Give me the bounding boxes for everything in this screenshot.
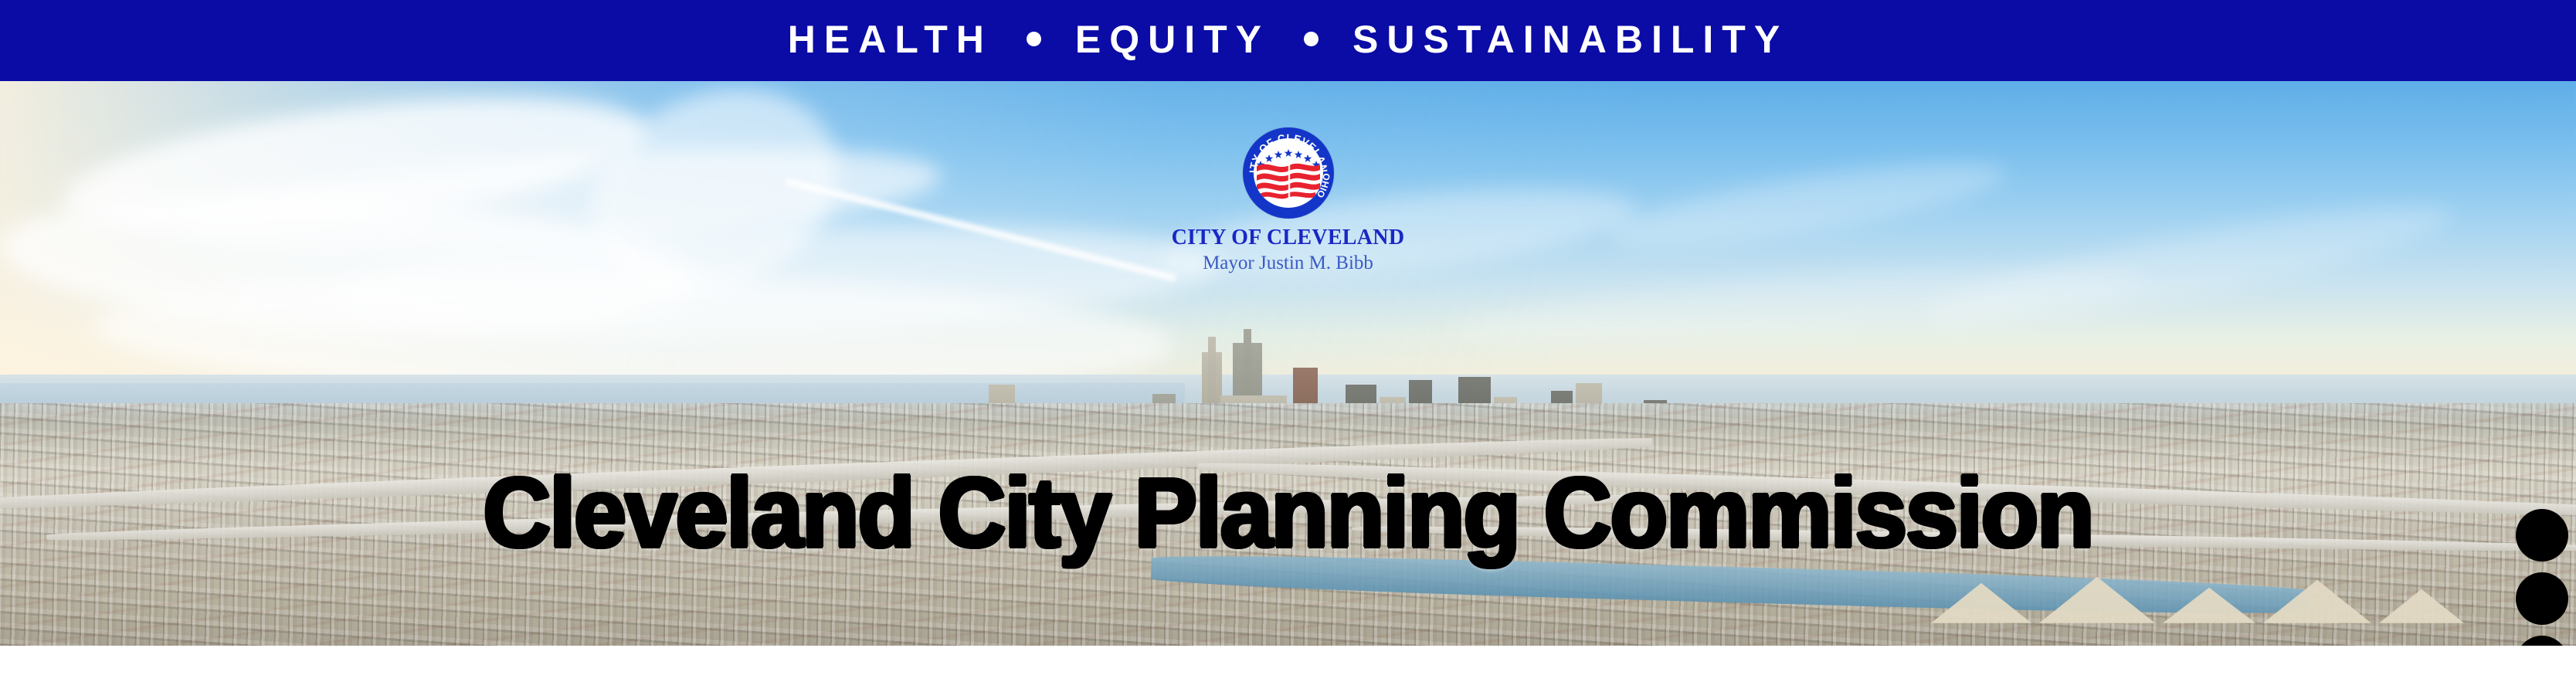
- banner-separator-dot-2: [1304, 32, 1319, 46]
- city-logo-block: CITY OF CLEVELAND OHIO: [0, 127, 2576, 274]
- banner-separator-dot-1: [1027, 32, 1041, 46]
- banner-word-health: HEALTH: [788, 20, 993, 59]
- banner-word-equity: EQUITY: [1075, 20, 1270, 59]
- seal-inner-disc: [1254, 138, 1323, 208]
- page-root: HEALTH EQUITY SUSTAINABILITY: [0, 0, 2576, 682]
- instagram-glyph: [2525, 582, 2559, 616]
- instagram-icon[interactable]: [2516, 572, 2568, 625]
- waving-flag-icon: [1255, 158, 1322, 203]
- facebook-glyph: [2525, 645, 2559, 646]
- top-banner: HEALTH EQUITY SUSTAINABILITY: [0, 0, 2576, 81]
- city-name-label: CITY OF CLEVELAND: [1172, 226, 1405, 250]
- youtube-glyph: [2525, 518, 2559, 552]
- youtube-icon[interactable]: [2516, 509, 2568, 562]
- hero-photo-region: CITY OF CLEVELAND OHIO: [0, 81, 2576, 646]
- social-links: [2516, 509, 2568, 646]
- mayor-name-label: Mayor Justin M. Bibb: [1203, 253, 1373, 274]
- facebook-icon[interactable]: [2516, 636, 2568, 646]
- page-title: Cleveland City Planning Commission: [64, 464, 2511, 563]
- city-of-cleveland-seal-icon: CITY OF CLEVELAND OHIO: [1243, 127, 1334, 219]
- banner-words: HEALTH EQUITY SUSTAINABILITY: [788, 20, 1788, 59]
- banner-word-sustainability: SUSTAINABILITY: [1352, 20, 1788, 59]
